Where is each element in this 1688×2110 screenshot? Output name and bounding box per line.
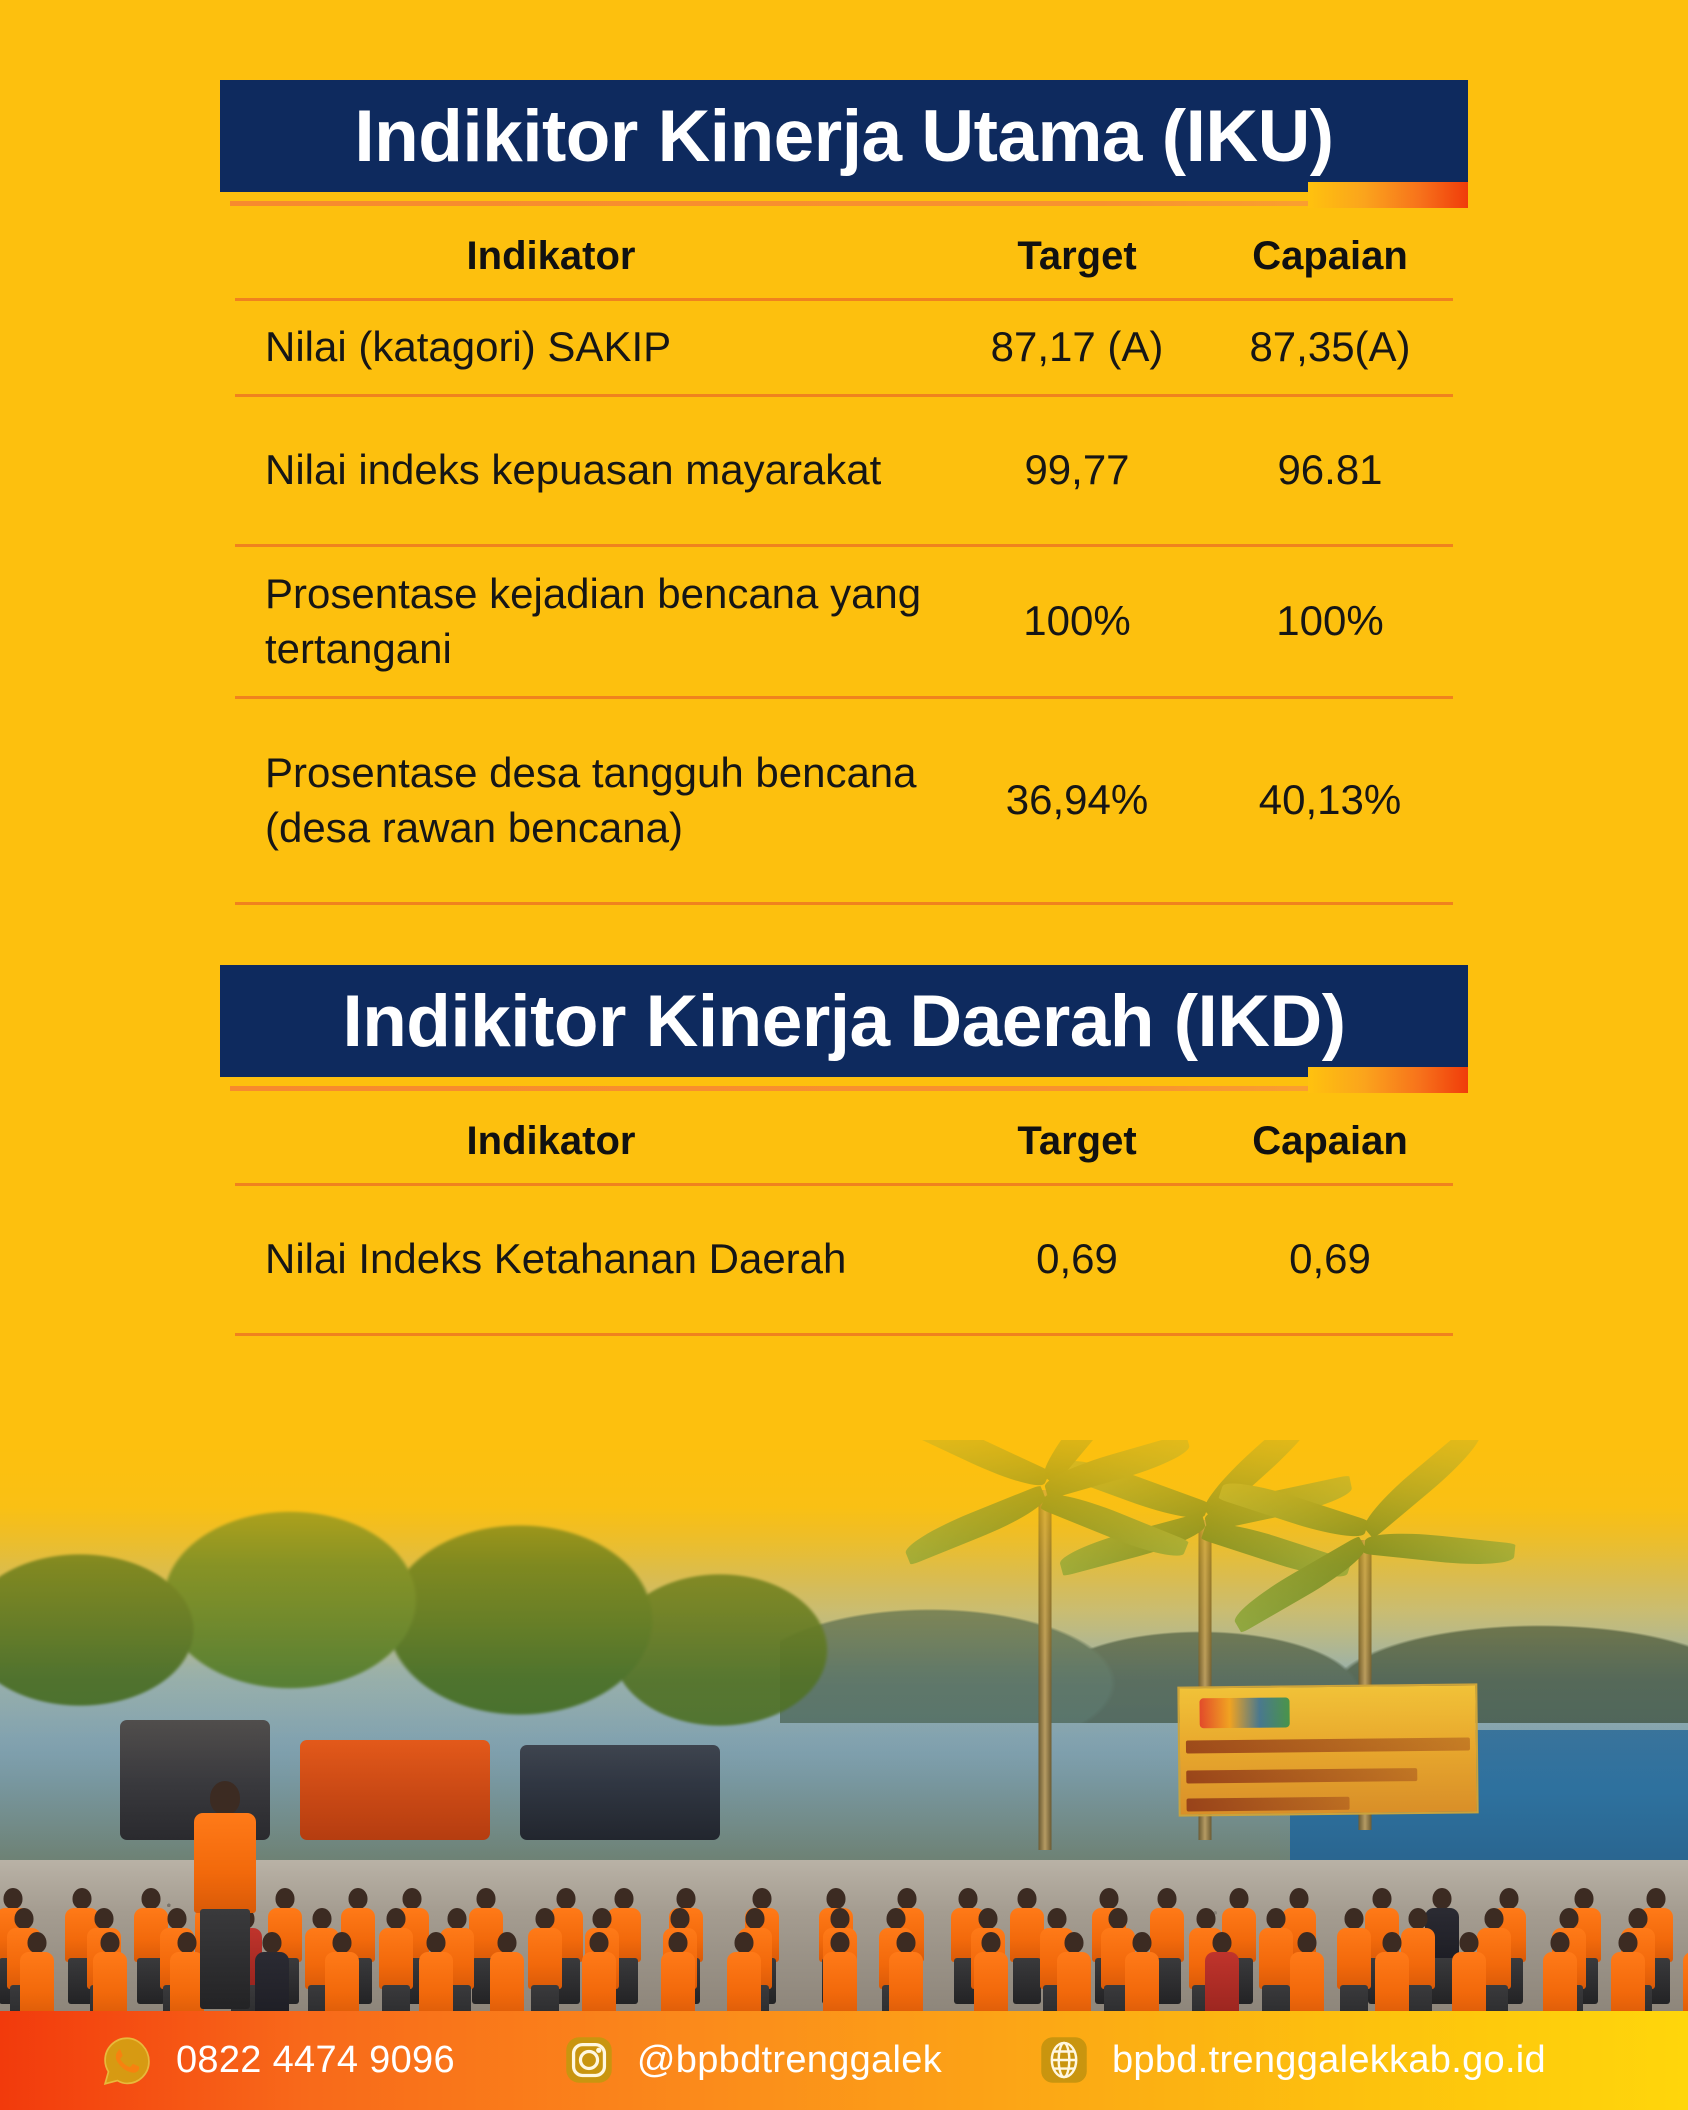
cell-capaian: 0,69 <box>1207 1232 1453 1287</box>
photo-person <box>1054 1932 1094 2011</box>
photo-person <box>658 1932 698 2011</box>
cell-indikator: Nilai Indeks Ketahanan Daerah <box>265 1232 947 1287</box>
website-url: bpbd.trenggalekkab.go.id <box>1112 2039 1546 2082</box>
banner-bottom-accent <box>1308 182 1468 208</box>
column-header-capaian: Capaian <box>1207 236 1453 276</box>
photo-person <box>90 1932 130 2011</box>
cell-capaian: 96.81 <box>1207 443 1453 498</box>
contact-footer: 0822 4474 9096 @bpbdtrenggalek bpbd.tren <box>0 2011 1688 2110</box>
photo-person <box>886 1932 926 2011</box>
footer-whatsapp[interactable]: 0822 4474 9096 <box>100 2034 455 2088</box>
banner-bottom-accent <box>1308 1067 1468 1093</box>
photo-person <box>579 1932 619 2011</box>
cell-target: 36,94% <box>947 773 1207 828</box>
table-iku: Indikator Target Capaian Nilai (katagori… <box>235 222 1453 905</box>
table-header-row: Indikator Target Capaian <box>235 1107 1453 1186</box>
footer-instagram[interactable]: @bpbdtrenggalek <box>563 2034 942 2088</box>
photo-person <box>1540 1932 1580 2011</box>
instagram-icon <box>563 2034 617 2088</box>
banner-iku: Indikitor Kinerja Utama (IKU) <box>220 80 1468 192</box>
photo-vehicle <box>300 1740 490 1840</box>
cell-target: 99,77 <box>947 443 1207 498</box>
photo-person <box>1680 1932 1688 2011</box>
photo-person <box>820 1932 860 2011</box>
photo-person <box>487 1932 527 2011</box>
cell-capaian: 40,13% <box>1207 773 1453 828</box>
table-row: Nilai Indeks Ketahanan Daerah 0,69 0,69 <box>235 1186 1453 1336</box>
column-header-target: Target <box>947 236 1207 276</box>
photo-person <box>1608 1932 1648 2011</box>
table-row: Nilai (katagori) SAKIP 87,17 (A) 87,35(A… <box>235 301 1453 397</box>
table-row: Nilai indeks kepuasan mayarakat 99,77 96… <box>235 397 1453 547</box>
cell-target: 87,17 (A) <box>947 320 1207 375</box>
footer-website[interactable]: bpbd.trenggalekkab.go.id <box>1038 2034 1546 2088</box>
photo-event-banner <box>1177 1683 1478 1816</box>
photo-person <box>416 1932 456 2011</box>
photo-person <box>1372 1932 1412 2011</box>
cell-indikator: Nilai indeks kepuasan mayarakat <box>265 443 947 498</box>
section-banner-ikd: Indikitor Kinerja Daerah (IKD) <box>220 965 1468 1077</box>
banner-ikd: Indikitor Kinerja Daerah (IKD) <box>220 965 1468 1077</box>
table-row: Prosentase kejadian bencana yang tertang… <box>235 547 1453 699</box>
photo-person <box>1334 1908 1374 2011</box>
column-header-indikator: Indikator <box>265 1121 947 1161</box>
photo-person <box>1449 1932 1489 2011</box>
table-header-row: Indikator Target Capaian <box>235 222 1453 301</box>
cell-target: 100% <box>947 594 1207 649</box>
poster-content: Indikitor Kinerja Utama (IKU) Indikator … <box>0 0 1688 1336</box>
photo-person <box>1202 1932 1242 2011</box>
cell-capaian: 87,35(A) <box>1207 320 1453 375</box>
photo-person <box>1287 1932 1327 2011</box>
globe-icon <box>1038 2034 1092 2088</box>
photo-person <box>1122 1932 1162 2011</box>
whatsapp-icon <box>100 2034 154 2088</box>
photo-person <box>724 1932 764 2011</box>
cell-indikator: Prosentase kejadian bencana yang tertang… <box>265 567 947 676</box>
table-ikd: Indikator Target Capaian Nilai Indeks Ke… <box>235 1107 1453 1336</box>
photo-person <box>525 1908 565 2011</box>
cell-capaian: 100% <box>1207 594 1453 649</box>
cell-target: 0,69 <box>947 1232 1207 1287</box>
banner-bottom-line <box>230 201 1468 206</box>
column-header-indikator: Indikator <box>265 236 947 276</box>
banner-title-iku: Indikitor Kinerja Utama (IKU) <box>354 100 1333 173</box>
photo-person <box>971 1932 1011 2011</box>
photo-palm-tree <box>960 1450 1130 1850</box>
banner-title-ikd: Indikitor Kinerja Daerah (IKD) <box>342 985 1345 1058</box>
photo-person <box>376 1908 416 2011</box>
banner-bottom-line <box>230 1086 1468 1091</box>
cell-indikator: Prosentase desa tangguh bencana (desa ra… <box>265 746 947 855</box>
whatsapp-number: 0822 4474 9096 <box>176 2039 455 2082</box>
photo-person <box>322 1932 362 2011</box>
table-row: Prosentase desa tangguh bencana (desa ra… <box>235 699 1453 905</box>
cell-indikator: Nilai (katagori) SAKIP <box>265 320 947 375</box>
photo-vehicle <box>520 1745 720 1840</box>
photo-person <box>17 1932 57 2011</box>
instagram-handle: @bpbdtrenggalek <box>637 2039 942 2082</box>
section-banner-iku: Indikitor Kinerja Utama (IKU) <box>220 80 1468 192</box>
ceremony-photo <box>0 1440 1688 2011</box>
photo-officer <box>190 1781 260 2011</box>
column-header-capaian: Capaian <box>1207 1121 1453 1161</box>
column-header-target: Target <box>947 1121 1207 1161</box>
